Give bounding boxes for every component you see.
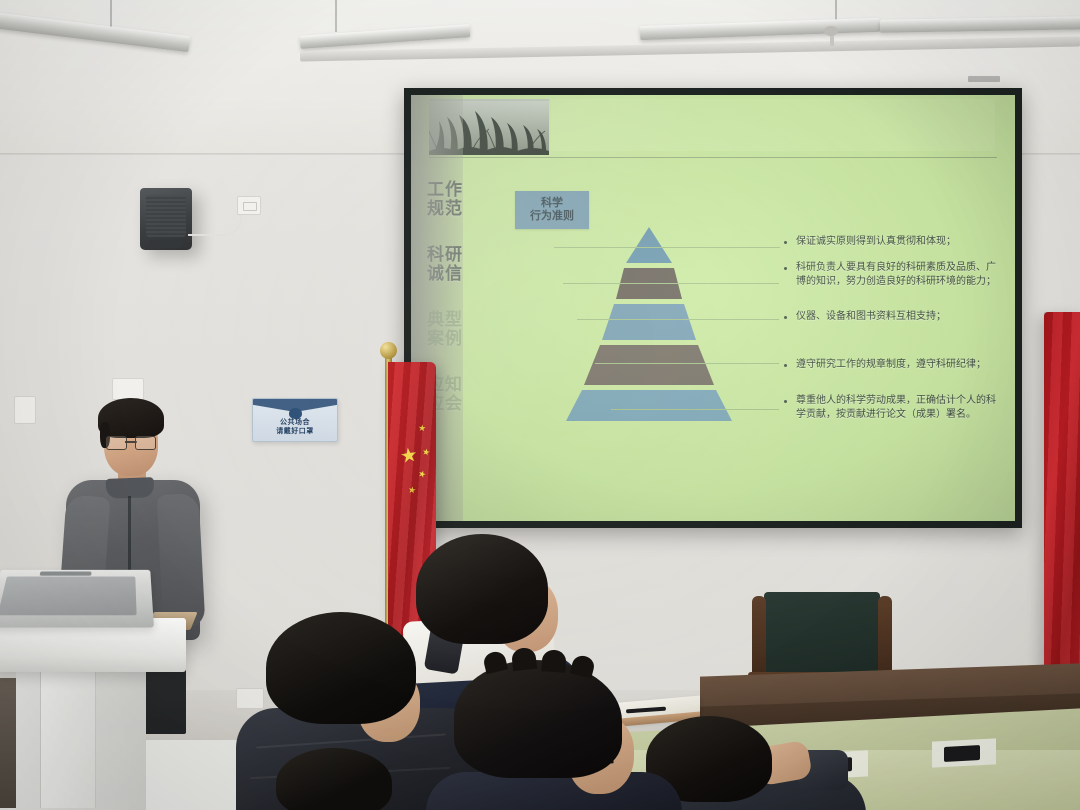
pyramid-tier-1	[626, 227, 672, 263]
light-wire	[335, 0, 337, 32]
projection-screen: 工作 规范 科研 诚信 典型 案例 应知 应会	[411, 95, 1015, 521]
speaker-cord	[188, 208, 242, 236]
slide-bullet: 遵守研究工作的规章制度，遵守科研纪律；	[783, 358, 1001, 372]
presentation-slide: 工作 规范 科研 诚信 典型 案例 应知 应会	[411, 95, 1015, 521]
flagpole-finial	[380, 342, 397, 359]
white-lectern	[0, 566, 194, 810]
mask-sign-line2: 请戴好口罩	[276, 428, 314, 437]
flag-star: ★	[417, 469, 427, 480]
monitor-slot	[40, 571, 92, 575]
mask-sign-line1: 公共场合	[280, 419, 310, 428]
attendee-hair	[276, 748, 392, 810]
wall-label	[968, 76, 1000, 82]
glasses-bridge	[125, 441, 137, 443]
leader-line	[611, 409, 779, 410]
lectern-panel	[40, 672, 96, 808]
pyramid-tier-4	[584, 345, 714, 385]
projection-screen-frame: 工作 规范 科研 诚信 典型 案例 应知 应会	[404, 88, 1022, 528]
leader-line	[554, 247, 780, 248]
slide-bullet: 尊重他人的科学劳动成果，正确估计个人的科学贡献，按贡献进行论文（成果）署名。	[783, 394, 1001, 422]
wall-speaker	[140, 188, 192, 250]
attendee-front-center	[430, 660, 680, 810]
slide-bullet: 仪器、设备和图书资料互相支持；	[783, 310, 1001, 324]
attendee-hair	[454, 660, 622, 778]
slide-bullet: 保证诚实原则得到认真贯彻和体现；	[783, 235, 1001, 249]
chinese-national-flag-right	[1044, 312, 1080, 712]
lectern-monitor[interactable]	[0, 570, 154, 628]
pyramid-tier-3	[602, 304, 696, 340]
light-wire	[110, 0, 112, 28]
slide-bullet: 科研负责人要具有良好的科研素质及品质、广博的知识，努力创造良好的科研环境的能力；	[783, 261, 1001, 289]
leader-line	[577, 319, 779, 320]
flag-star: ★	[421, 447, 431, 457]
power-outlet[interactable]	[237, 196, 261, 215]
flag-star: ★	[407, 485, 417, 495]
attendee-hair	[266, 612, 416, 724]
glasses-icon	[106, 436, 156, 449]
slide-tag-line2: 行为准则	[530, 210, 574, 223]
lecture-room-photo: 公共场合 请戴好口罩	[0, 0, 1080, 810]
leader-line	[595, 363, 779, 364]
mask-notice-sign: 公共场合 请戴好口罩	[252, 398, 338, 442]
leader-line	[563, 283, 779, 284]
chair-arm	[878, 596, 892, 680]
rail-knob	[824, 26, 838, 36]
flag-star: ★	[399, 445, 420, 467]
pyramid-tier-5	[566, 390, 732, 421]
attendee-far-left	[276, 748, 396, 810]
monitor-screen[interactable]	[0, 577, 137, 616]
flag-star: ★	[418, 424, 427, 434]
chair-arm	[752, 596, 766, 680]
presenter-hair	[98, 398, 164, 438]
slide-header	[411, 95, 1015, 157]
mask-icon	[289, 408, 302, 419]
chair-backrest	[764, 592, 880, 678]
slide-bullet-list: 保证诚实原则得到认真贯彻和体现； 科研负责人要具有良好的科研素质及品质、广博的知…	[783, 235, 1001, 334]
power-outlet[interactable]	[14, 396, 36, 424]
slide-header-blank	[551, 99, 995, 151]
speaker-grill-icon	[146, 195, 186, 237]
slide-header-rule	[429, 157, 997, 158]
phone[interactable]	[944, 745, 980, 762]
hair-spike	[541, 649, 566, 673]
pyramid-diagram	[539, 223, 759, 423]
